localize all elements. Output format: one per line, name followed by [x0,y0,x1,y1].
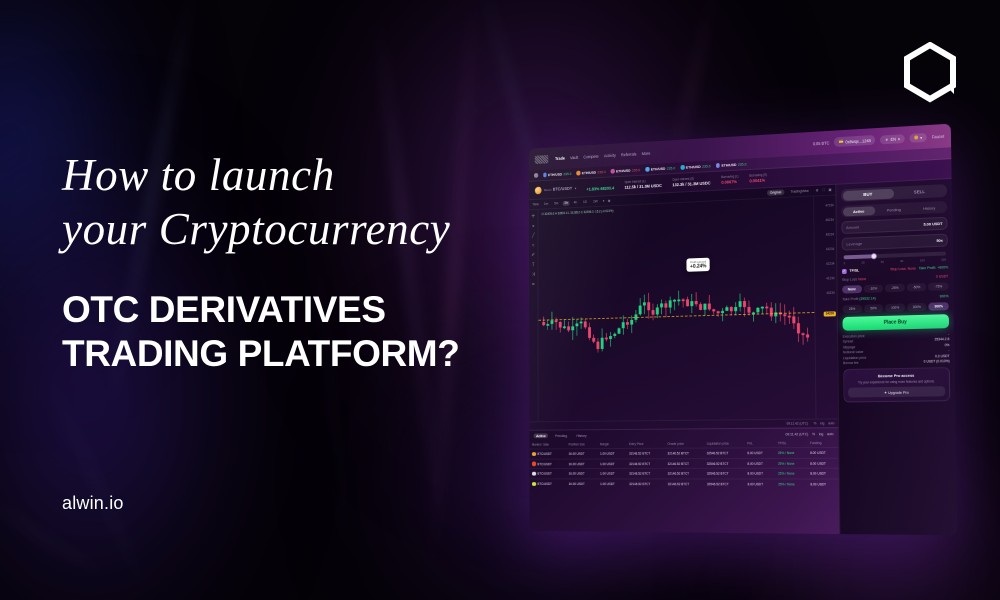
ticker-pair: ETH/USD [651,166,666,171]
column-header[interactable]: PnL [744,439,775,447]
wallet-icon: 💳 [839,139,844,145]
indicator-icon[interactable]: ◉ [608,199,611,203]
leverage-tick: 2 [844,261,846,265]
language-selector[interactable]: ☀ EN ▾ [880,134,905,144]
tpsl-header[interactable]: ✓ TP/SL Stop Loss: None Take Profit: +90… [842,265,948,274]
scale-option-auto[interactable]: auto [828,421,834,425]
tpsl-cell: 25% / None [775,448,807,459]
detail-label: Notional value [843,350,863,354]
chart-price-axis: 4723446234452344323442234412344023434200 [813,195,838,418]
pair-selector[interactable]: Bitcoin BTC/USDT ▾ [535,184,576,194]
app-nav-links: TradeVaultCompeteActivityReferralsMore [555,150,650,160]
chart-plot-area[interactable]: O 32405.6 H 32891.4 L 31285.0 C 32256.3 … [538,197,815,422]
stat-value: 0.0067% [721,179,738,186]
ticker-pair: ETH/USD [686,165,701,170]
ticker-price: 235.0 [597,170,605,174]
stat-value: 132.3k / 31.3M USDC [672,180,710,188]
usdc-icon [680,165,684,169]
app-logo-icon[interactable] [535,155,548,164]
take-profit-label: Take Profit [842,297,858,301]
wallet-address: 0x8wqx...1248 [845,138,870,144]
pair-label: BTC/USDT [553,186,572,192]
price-tick: 43234 [826,247,834,251]
chart-scale-options: %logauto [814,421,835,425]
ticker-chip[interactable]: ETH/USD235.0 [611,168,640,174]
positions-table: Market / SidePosition sizeMarginEntry Pr… [529,439,839,489]
column-header[interactable]: Liquidation price [704,440,745,448]
ticker-chip[interactable]: ETH/USD235.0 [716,162,747,168]
ticker-price: 235.0 [702,164,711,168]
order-panel: BUYSELL ActivePendingHistory Amount 5.00… [835,179,957,535]
upgrade-pro-label: Upgrade Pro [888,391,909,395]
btc-coin-icon [535,186,542,194]
ticker-price: 235.0 [738,162,747,166]
leverage-field[interactable]: Leverage 50x [842,234,948,251]
buy-sell-tabs: BUYSELL [841,184,947,202]
detail-row: Borrow fee0 USDT (0.013%) [843,360,950,366]
nav-link-more[interactable]: More [642,150,651,155]
order-tab-pending[interactable]: Pending [877,204,910,214]
scale-option-log[interactable]: log [820,421,824,425]
detail-value: 25344.2.8 [935,337,950,341]
text-icon[interactable]: T [532,262,535,268]
stat-item: Borrowing (S)0.0041% [749,173,767,185]
nav-link-activity[interactable]: Activity [604,152,616,157]
ticker-chip[interactable]: ETH/USD235.0 [577,170,606,176]
entry-cell: 32146.52 BTCT [626,459,665,469]
column-header[interactable]: Margin [597,440,626,448]
column-header[interactable]: Oracle price [665,440,704,448]
market-cell: BTC/USDT [529,469,566,479]
price-tick: 47234 [825,203,833,207]
magnet-icon[interactable]: ⌖ [532,223,534,229]
stat-value: 112.5k / 31.3M USDC [625,183,662,191]
price-tick: 41234 [826,276,834,280]
nav-link-trade[interactable]: Trade [555,155,565,160]
margin-cell: 1.00 USDT [597,469,626,479]
take-profit-options: 25%50%100%300%900% [842,302,948,313]
detail-value: 0% [945,343,950,347]
lock-icon[interactable]: ⌗ [532,281,534,287]
slider-knob[interactable] [871,253,877,259]
pnl-cell: 8.00 USDT [745,458,776,468]
ticker-chip[interactable] [534,173,538,177]
check-icon[interactable]: ✓ [842,268,847,273]
column-header[interactable]: Entry Price [626,440,665,448]
positions-option-log[interactable]: log [819,432,824,436]
timeframe-1D[interactable]: 1D [581,199,588,204]
market-cell: BTC/USDT [529,449,566,459]
hero-script-line-1: How to launch [62,148,532,202]
column-header[interactable]: TP/SL [775,439,807,447]
detail-label: Borrow fee [843,361,859,365]
profit-tooltip: Profit earned! +0.24% [686,258,710,272]
candlestick-series [538,197,815,422]
size-cell: 16.00 USDT [566,449,598,459]
detail-label: Execution price [843,334,865,338]
size-cell: 16.00 USDT [566,479,598,489]
positions-time: 09:11:42 (UTC) [785,432,808,436]
margin-cell: 1.00 USDT [597,448,626,458]
price-tick: 45234 [826,232,834,236]
positions-tab-history[interactable]: History [574,433,589,438]
stop-loss-label: Stop Loss [842,277,857,281]
entry-cell: 32146.52 BTCT [626,448,665,458]
ticker-chip[interactable]: ETH/USD235.0 [680,164,710,170]
column-header[interactable]: Position size [566,441,598,449]
brush-icon[interactable]: ✐ [531,252,535,258]
detail-value: 0 USDT (0.013%) [924,360,950,364]
market-label: BTC/USDT [537,462,551,466]
timeframe-group: 1m5m1h4h1D1W [542,199,599,206]
eth-icon [543,173,547,177]
measure-icon[interactable]: ⤨ [532,272,535,278]
ticker-pair: ETH/USD [582,170,596,174]
liq-cell: 32546.52 BTCT [704,448,745,459]
liq-cell: 32546.52 BTCT [704,479,745,489]
stat-item: Borrowing (L)0.0067% [721,174,738,186]
tpsl-take-summary: Take Profit: +900% [919,265,948,270]
language-label: EN [890,136,896,141]
token-icon [611,169,615,173]
price-tick: 40234 [826,291,834,295]
stat-item: Open Interest (L)112.5k / 31.3M USDC [624,178,661,191]
wallet-chip[interactable]: 💳 0x8wqx...1248 [834,135,876,147]
upgrade-pro-button[interactable]: ✦ Upgrade Pro [848,387,945,398]
hero-headline-line-1: OTC DERIVATIVES [62,288,532,332]
fullscreen-icon[interactable]: ⛶ [822,188,824,192]
become-pro-card: Become Pro access Try your experience fo… [843,368,950,403]
stop-loss-row: Stop Loss None 0 USDT [842,274,948,282]
funding-cell: 8.00 USDT [807,458,838,469]
stop-option[interactable]: -25% [885,283,905,292]
size-cell: 16.00 USDT [566,469,598,479]
leverage-tick: 90 [900,259,903,263]
timeframe-4h[interactable]: 4h [572,200,579,205]
bnb-icon [645,167,649,171]
side-tab-buy[interactable]: BUY [842,188,893,200]
stat-item: +1.83% 68203.4 [586,181,614,193]
funding-cell: 8.00 USDT [807,447,838,458]
timeframe-1h[interactable]: 1h [563,200,570,205]
stop-loss-value: 0 USDT [936,274,948,278]
hero-script-line-2: your Cryptocurrency [62,202,532,256]
settings-icon[interactable]: ⚙ [816,188,819,192]
timeframe-1m[interactable]: 1m [542,201,550,206]
positions-tab-active[interactable]: Active [534,433,549,438]
chevron-down-icon: ▾ [575,186,577,190]
chevron-down-icon: ▾ [920,135,922,140]
chart-time: 09:11:42 (UTC) [786,422,808,426]
entry-cell: 32146.52 BTCT [626,469,665,479]
btc-coin-icon [532,462,536,466]
sparkle-icon: ✦ [884,391,887,395]
take-profit-state: (39532.14) [859,296,876,300]
brand-name: alwin.io [62,493,124,514]
margin-cell: 1.00 USDT [598,479,627,489]
leverage-label: Leverage [846,241,862,247]
market-label: BTC/USDT [537,472,551,476]
detail-label: Slippage [843,345,856,349]
ticker-pair: ETH/USD [616,168,630,173]
chart-view-original[interactable]: Original [767,189,785,196]
liq-cell: 32546.52 BTCT [704,458,745,468]
stop-option[interactable]: -75% [928,282,948,291]
tpsl-cell: 25% / None [775,469,807,480]
stat-value: 0.0041% [749,177,767,184]
stop-option[interactable]: -50% [907,283,927,292]
faucet-link[interactable]: Faucet [932,133,944,139]
funding-cell: 8.00 USDT [807,469,838,480]
ticker-pair: ETH/USD [721,163,736,168]
ticker-price: 235.0 [632,168,640,172]
order-tab-history[interactable]: History [913,202,946,212]
amount-label: Amount [846,225,859,230]
nav-link-referrals[interactable]: Referrals [621,151,636,157]
pro-text: Try your experience for using more featu… [848,379,945,385]
leverage-tick: 20 [861,260,864,264]
take-option[interactable]: 900% [929,302,949,311]
detail-value: - [948,348,949,352]
table-row[interactable]: BTC/USDT16.00 USDT1.00 USDT32146.52 BTCT… [529,479,839,489]
detail-value: 0.3 USDT [935,354,950,358]
detail-label: Spread [843,339,853,343]
oracle-cell: 32146.52 BTCT [665,458,704,468]
order-status-tabs: ActivePendingHistory [841,201,947,218]
price-tick: 46234 [826,218,834,222]
leverage-tick: 50 [881,259,884,263]
fib-icon[interactable]: ≈ [532,243,534,249]
tpsl-stop-summary: Stop Loss: None [890,267,916,272]
take-profit-row: Take Profit (39532.14) 900% [842,294,948,301]
leverage-slider[interactable]: 2205090120150 [842,250,948,264]
stat-item: Open Interest (S)132.3k / 31.3M USDC [672,176,710,189]
positions-toolbar: 09:11:42 (UTC)%logauto [785,432,833,436]
amount-field[interactable]: Amount 5.00 USDT [841,217,947,234]
btc-icon [577,171,581,175]
chart-view-tabs: OriginalTradingView [767,188,812,196]
oracle-cell: 32146.52 BTCT [665,448,704,458]
camera-icon[interactable]: ▣ [828,188,831,192]
order-tab-active[interactable]: Active [843,206,875,216]
stop-option[interactable]: -10% [863,284,883,292]
positions-option-auto[interactable]: auto [827,432,834,436]
tpsl-cell: 25% / None [775,458,807,469]
flag-icon: ☀ [885,137,889,142]
star-icon [534,173,538,177]
take-option[interactable]: 100% [885,303,905,311]
entry-cell: 32146.52 BTCT [627,479,666,489]
ticker-price: 235.0 [667,166,675,170]
detail-label: Liquidation price [843,356,866,360]
stop-loss-state: None [858,277,866,281]
hero-copy: How to launch your Cryptocurrency OTC DE… [62,148,532,376]
eth-coin-icon [532,472,536,476]
column-header[interactable]: Funding [807,439,838,448]
chevron-down-icon: ▾ [898,136,900,141]
link-icon [716,163,720,167]
hexagon-logo-icon [902,42,958,104]
oracle-cell: 32146.52 BTCT [665,479,704,489]
price-tick: 42234 [826,262,834,266]
funding-cell: 8.00 USDT [808,479,839,489]
chart-time-label: Time [532,202,539,206]
chevron-down-icon[interactable]: ▾ [603,199,605,203]
positions-option-%[interactable]: % [812,432,815,436]
avatar-icon [914,135,918,139]
market-cell: BTC/USDT [529,459,566,469]
leverage-tick: 150 [941,257,946,261]
balance-label: 0.05 BTC [813,140,829,146]
tooltip-value: +0.24% [690,264,707,270]
hero-headline-line-2: TRADING PLATFORM? [62,332,532,376]
timeframe-5m[interactable]: 5m [552,201,560,206]
column-header[interactable]: Market / Side [529,441,566,449]
order-details: Execution price-Spread25344.2.8Slippage0… [843,332,950,366]
last-price-label: 34200 [824,311,836,316]
trading-platform-screenshot: TradeVaultCompeteActivityReferralsMore 0… [529,124,957,536]
ticker-price: 235.0 [563,172,571,176]
take-option[interactable]: 50% [864,304,884,312]
table-row[interactable]: BTC/USDT16.00 USDT1.00 USDT32146.52 BTCT… [529,469,838,480]
positions-panel: ActivePendingHistory09:11:42 (UTC)%logau… [529,427,839,534]
btc-coin-icon [532,452,536,456]
margin-cell: 1.00 USDT [597,459,626,469]
pnl-cell: 8.00 USDT [745,448,776,459]
positions-tab-pending[interactable]: Pending [553,433,570,438]
leverage-tick: 120 [920,258,925,262]
tpsl-cell: 25% / None [775,479,807,489]
market-label: BTC/USDT [537,482,551,486]
oracle-cell: 32146.52 BTCT [665,469,704,479]
avatar-menu[interactable]: ▾ [909,132,927,142]
take-option[interactable]: 300% [907,302,927,311]
side-tab-sell[interactable]: SELL [893,186,945,198]
tpsl-label: TP/SL [849,269,859,273]
nav-link-vault[interactable]: Vault [570,155,578,160]
chart-view-tradingview[interactable]: TradingView [787,188,812,195]
table-row[interactable]: BTC/USDT16.00 USDT1.00 USDT32146.52 BTCT… [529,458,838,469]
trendline-icon[interactable]: ╱ [532,233,535,239]
stat-value: +1.83% 68203.4 [586,185,614,193]
detail-value: - [948,332,949,336]
nav-link-compete[interactable]: Compete [583,153,598,159]
pnl-cell: 8.00 USDT [745,469,776,479]
take-profit-value: 900% [940,294,949,298]
ticker-chip[interactable]: ETH/USD235.0 [543,171,572,177]
take-option[interactable]: 25% [842,304,862,312]
size-cell: 16.00 USDT [566,459,598,469]
scale-option-%[interactable]: % [814,421,817,425]
market-cell: BTC/USDT [529,479,566,489]
stop-loss-options: None-10%-25%-50%-75% [842,282,948,293]
amount-value: 5.00 USDT [923,221,942,227]
pnl-cell: 8.00 USDT [745,479,776,489]
token-coin-icon [532,482,536,486]
leverage-value: 50x [936,238,943,243]
market-label: BTC/USDT [537,452,551,456]
liq-cell: 32546.52 BTCT [704,469,745,479]
stop-option[interactable]: None [842,285,862,293]
ticker-chip[interactable]: ETH/USD235.0 [645,166,675,172]
place-buy-button[interactable]: Place Buy [843,314,950,331]
pro-title: Become Pro access [848,373,945,380]
ticker-pair: ETH/USD [548,172,562,176]
timeframe-1W[interactable]: 1W [591,199,599,204]
